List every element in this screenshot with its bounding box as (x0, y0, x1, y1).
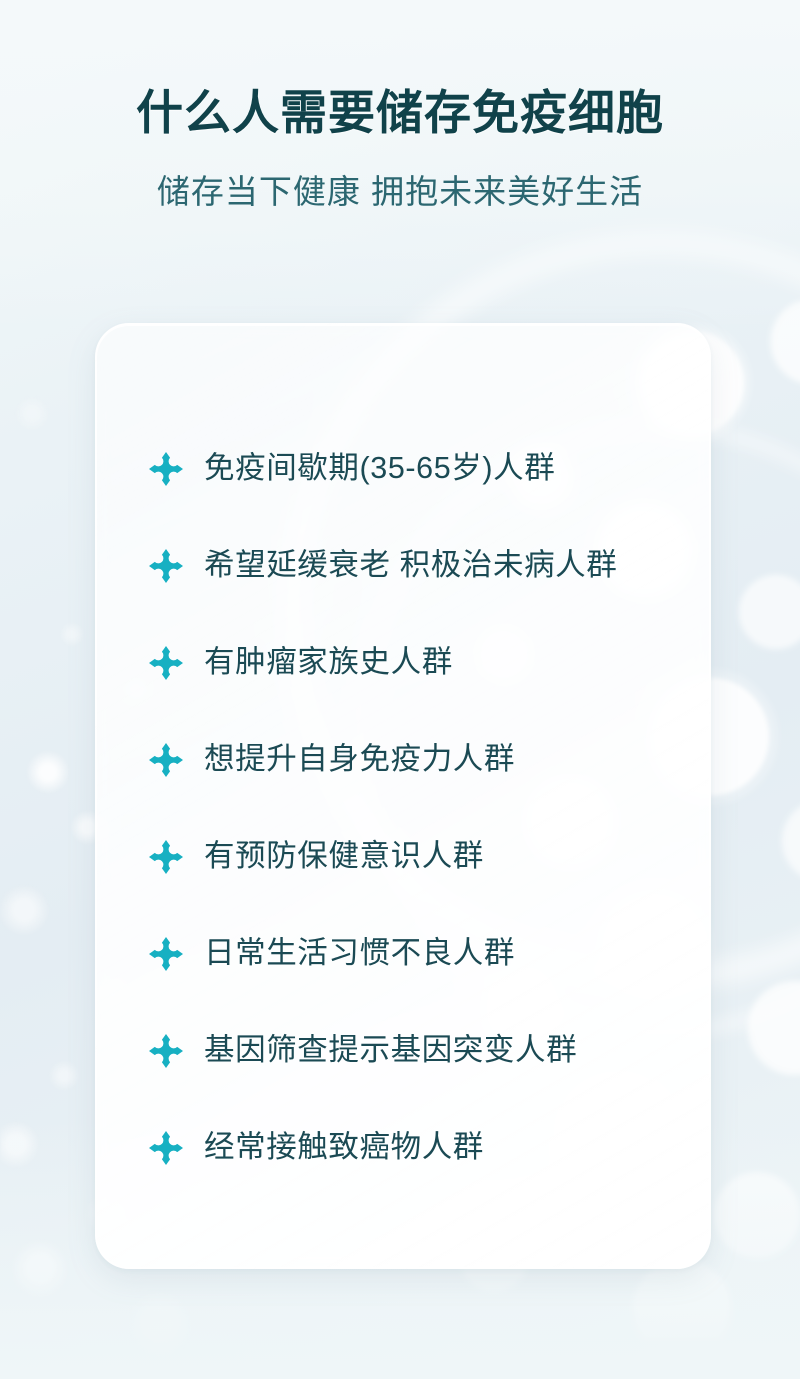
page-title: 什么人需要储存免疫细胞 (0, 86, 800, 141)
list-item-label: 希望延缓衰老 积极治未病人群 (204, 547, 617, 584)
list-item: 免疫间歇期(35-65岁)人群 (149, 420, 685, 517)
list-item: 有预防保健意识人群 (149, 808, 685, 905)
list-item-label: 想提升自身免疫力人群 (204, 741, 515, 778)
list-item-label: 有预防保健意识人群 (204, 838, 484, 875)
list-item: 希望延缓衰老 积极治未病人群 (149, 517, 685, 614)
list-item: 有肿瘤家族史人群 (149, 614, 685, 711)
page-subtitle: 储存当下健康 拥抱未来美好生活 (0, 171, 800, 214)
quatrefoil-diamond-icon (149, 1034, 183, 1068)
list-item: 日常生活习惯不良人群 (149, 905, 685, 1002)
list-item-label: 日常生活习惯不良人群 (204, 935, 515, 972)
list-item: 基因筛查提示基因突变人群 (149, 1002, 685, 1099)
quatrefoil-diamond-icon (149, 646, 183, 680)
list-item-label: 有肿瘤家族史人群 (204, 644, 453, 681)
audience-list: 免疫间歇期(35-65岁)人群 希望延缓衰老 积极治未病人群 有肿瘤家族史人群 … (149, 420, 685, 1196)
quatrefoil-diamond-icon (149, 937, 183, 971)
list-item-label: 免疫间歇期(35-65岁)人群 (204, 450, 555, 487)
list-item-label: 经常接触致癌物人群 (204, 1129, 484, 1166)
quatrefoil-diamond-icon (149, 840, 183, 874)
quatrefoil-diamond-icon (149, 743, 183, 777)
quatrefoil-diamond-icon (149, 1131, 183, 1165)
list-item: 想提升自身免疫力人群 (149, 711, 685, 808)
header-block: 什么人需要储存免疫细胞 储存当下健康 拥抱未来美好生活 (0, 86, 800, 213)
list-item-label: 基因筛查提示基因突变人群 (204, 1032, 577, 1069)
page-root: 什么人需要储存免疫细胞 储存当下健康 拥抱未来美好生活 免疫间歇期(35-65岁… (0, 0, 800, 1379)
quatrefoil-diamond-icon (149, 549, 183, 583)
quatrefoil-diamond-icon (149, 452, 183, 486)
audience-card: 免疫间歇期(35-65岁)人群 希望延缓衰老 积极治未病人群 有肿瘤家族史人群 … (95, 323, 711, 1269)
list-item: 经常接触致癌物人群 (149, 1099, 685, 1196)
